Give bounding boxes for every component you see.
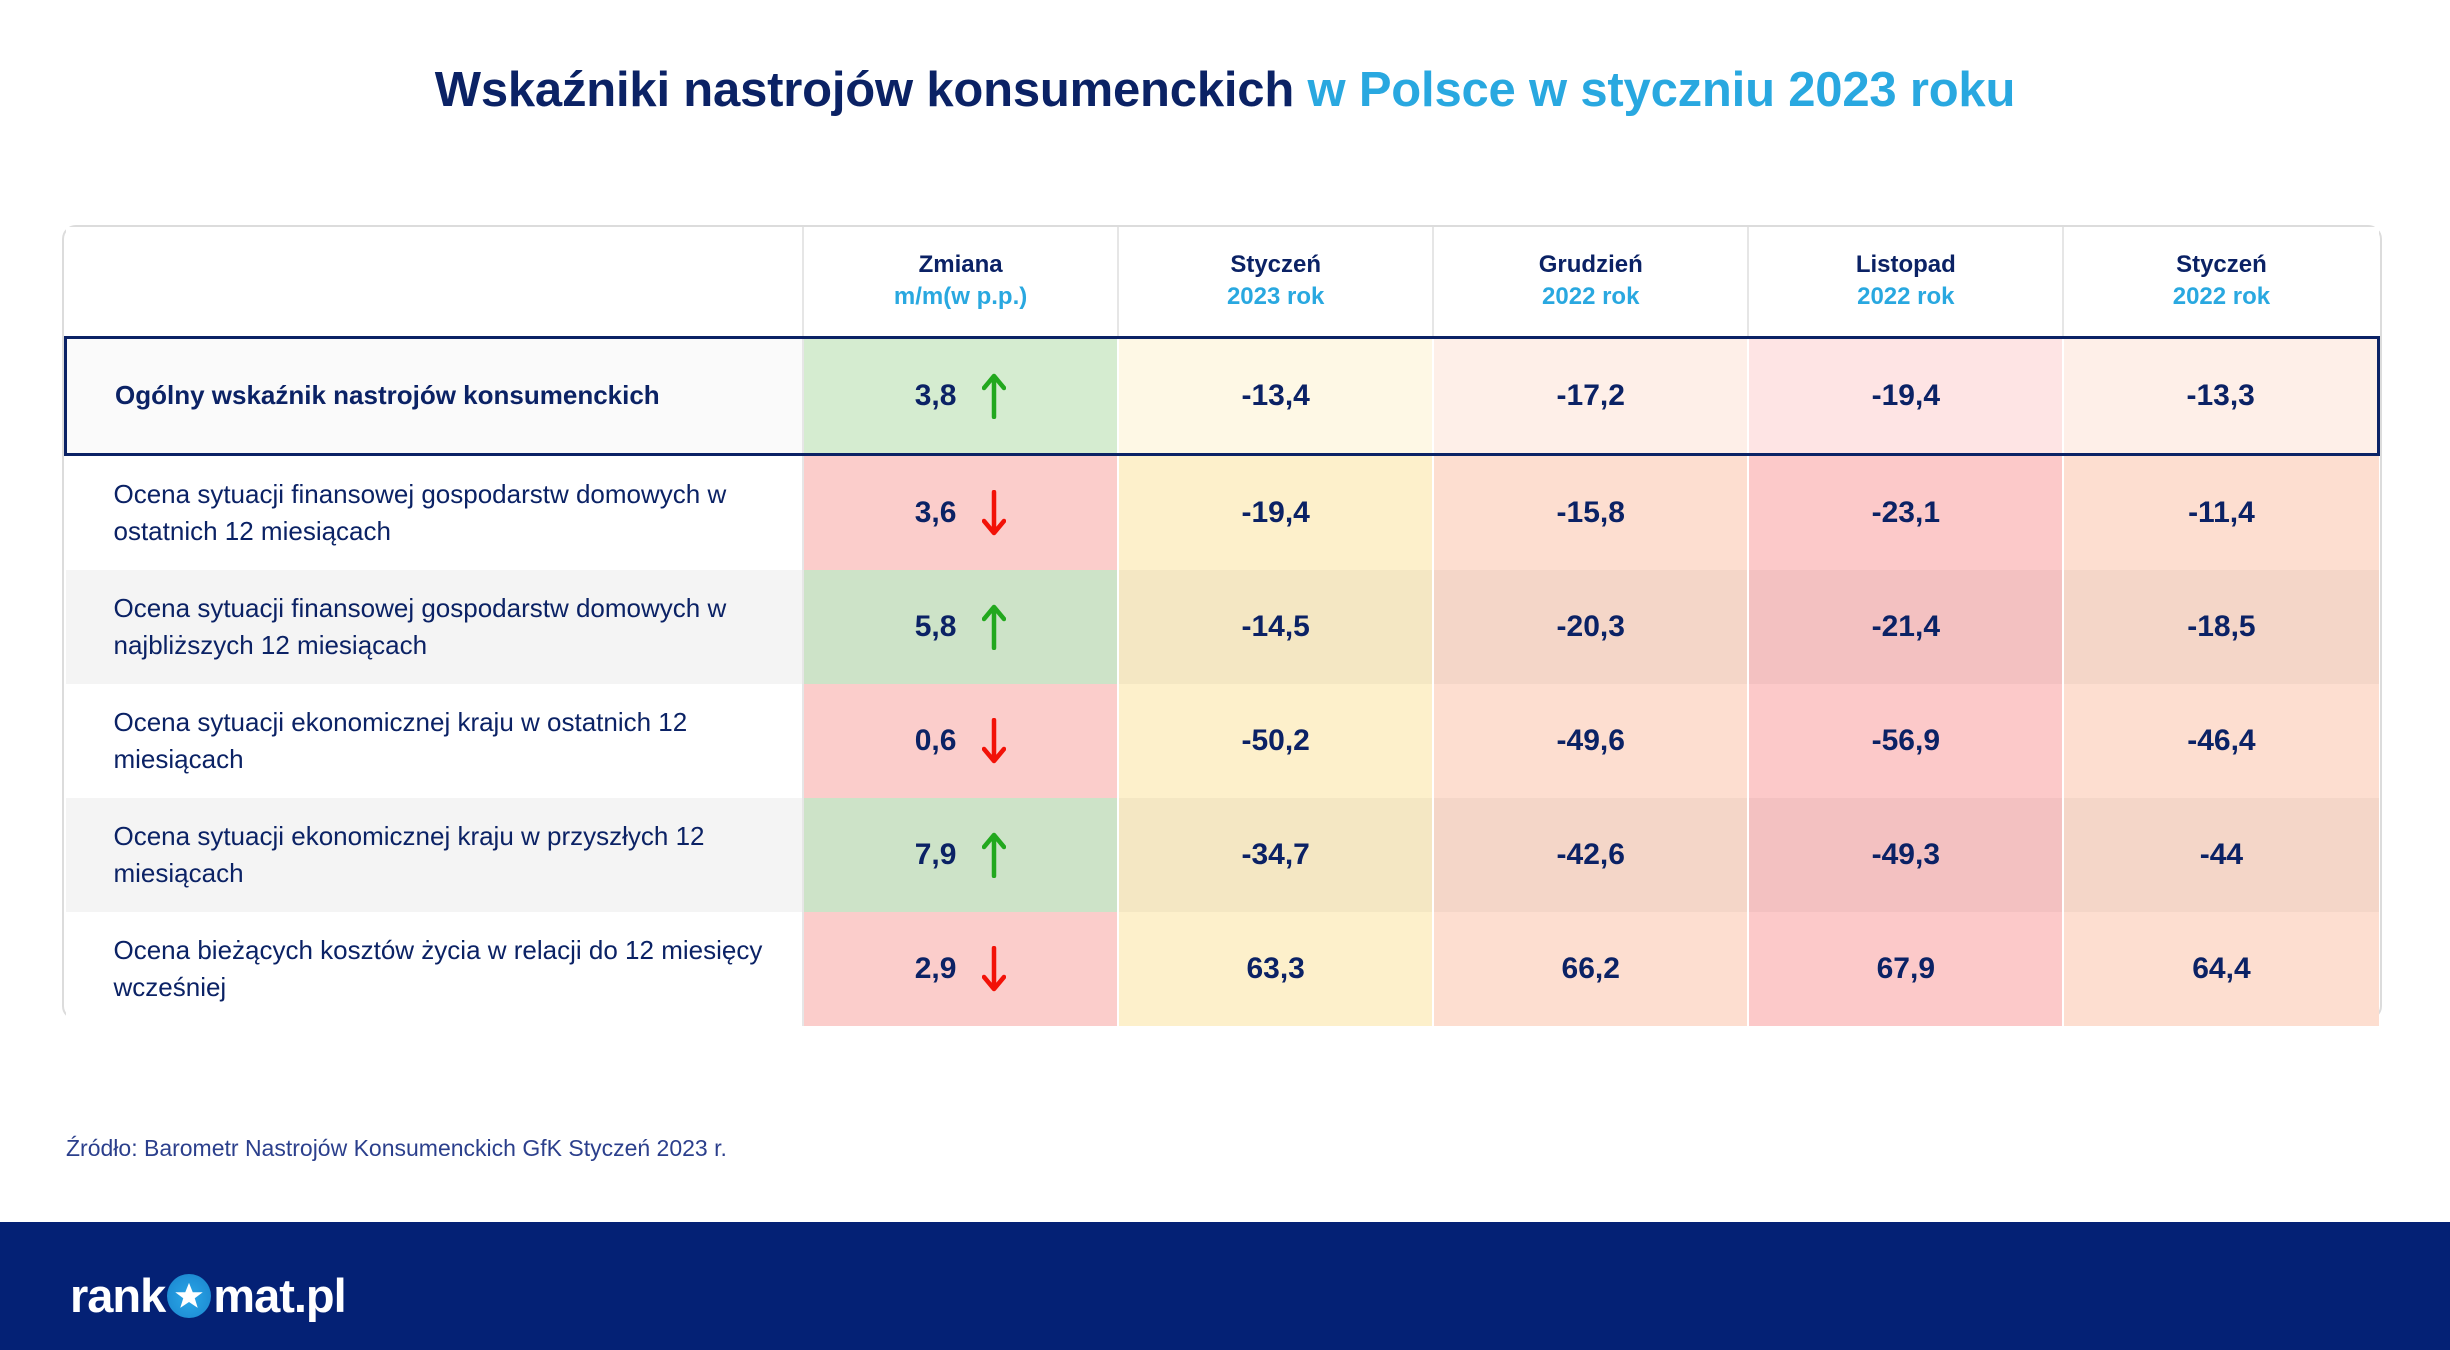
column-header-jan-2022-line2: 2022 rok [2064,281,2378,313]
row-label: Ocena bieżących kosztów życia w relacji … [66,912,804,1026]
title-part-light: w Polsce w styczniu 2023 roku [1308,63,2016,117]
column-header-nov-2022-line1: Listopad [1749,249,2062,281]
table-row: Ocena bieżących kosztów życia w relacji … [66,912,2379,1026]
arrow-down-icon [982,490,1006,536]
cell-inner: -20,3 [1434,570,1747,684]
column-header-jan-2023-line2: 2023 rok [1119,281,1432,313]
indicators-table-container: Zmiana m/m(w p.p.) Styczeń 2023 rok Grud… [62,225,2382,1020]
column-header-nov-2022-line2: 2022 rok [1749,281,2062,313]
cell-value: -34,7 [1118,798,1433,912]
cell-inner: -18,5 [2064,570,2378,684]
arrow-up-icon [982,604,1006,650]
cell-inner: -50,2 [1119,684,1432,798]
cell-inner: 64,4 [2064,912,2378,1026]
cell-text: -23,1 [1872,496,1940,530]
column-header-dec-2022: Grudzień 2022 rok [1433,227,1748,337]
arrow-down-icon [982,718,1006,764]
column-header-dec-2022-line1: Grudzień [1434,249,1747,281]
change-inner: 3,6 [804,456,1117,570]
change-value: 2,9 [915,952,957,986]
table-row: Ocena sytuacji finansowej gospodarstw do… [66,570,2379,684]
change-value: 0,6 [915,724,957,758]
source-note: Źródło: Barometr Nastrojów Konsumenckich… [66,1135,727,1162]
cell-value: -18,5 [2063,570,2378,684]
cell-value: 67,9 [1748,912,2063,1026]
cell-text: -42,6 [1557,838,1625,872]
cell-change: 7,9 [803,798,1118,912]
logo-text-left: rank [70,1272,165,1319]
row-label: Ogólny wskaźnik nastrojów konsumenckich [66,337,804,454]
page-title: Wskaźniki nastrojów konsumenckich w Pols… [0,62,2450,118]
cell-inner: -23,1 [1749,456,2062,570]
cell-text: -13,4 [1241,379,1309,413]
cell-text: -44 [2200,838,2243,872]
cell-value: -49,6 [1433,684,1748,798]
arrow-up-icon [982,373,1006,419]
cell-value: -42,6 [1433,798,1748,912]
column-header-jan-2023: Styczeń 2023 rok [1118,227,1433,337]
cell-text: -17,2 [1557,379,1625,413]
cell-text: -19,4 [1241,496,1309,530]
column-header-jan-2022: Styczeń 2022 rok [2063,227,2378,337]
cell-text: -20,3 [1557,610,1625,644]
row-label: Ocena sytuacji finansowej gospodarstw do… [66,454,804,570]
cell-text: -19,4 [1872,379,1940,413]
star-icon [167,1274,211,1318]
change-inner: 7,9 [804,798,1117,912]
cell-value: -13,4 [1118,337,1433,454]
cell-inner: -21,4 [1749,570,2062,684]
column-header-change-line2: m/m(w p.p.) [804,281,1117,313]
cell-value: -49,3 [1748,798,2063,912]
cell-inner: -17,2 [1434,339,1747,453]
cell-inner: -19,4 [1119,456,1432,570]
change-inner: 5,8 [804,570,1117,684]
cell-text: -11,4 [2188,496,2255,530]
cell-text: 64,4 [2192,952,2250,986]
cell-value: -14,5 [1118,570,1433,684]
cell-value: -50,2 [1118,684,1433,798]
column-header-jan-2023-line1: Styczeń [1119,249,1432,281]
column-header-indicator [66,227,804,337]
change-value: 5,8 [915,610,957,644]
rankomat-logo[interactable]: rank mat.pl [70,1272,346,1319]
cell-text: -14,5 [1241,610,1309,644]
cell-value: -46,4 [2063,684,2378,798]
table-body: Ogólny wskaźnik nastrojów konsumenckich3… [66,337,2379,1026]
cell-inner: -42,6 [1434,798,1747,912]
column-header-dec-2022-line2: 2022 rok [1434,281,1747,313]
cell-text: -15,8 [1557,496,1625,530]
row-label: Ocena sytuacji ekonomicznej kraju w przy… [66,798,804,912]
table-header: Zmiana m/m(w p.p.) Styczeń 2023 rok Grud… [66,227,2379,337]
cell-inner: 67,9 [1749,912,2062,1026]
change-inner: 3,8 [804,339,1117,453]
change-inner: 2,9 [804,912,1117,1026]
cell-value: -44 [2063,798,2378,912]
cell-change: 2,9 [803,912,1118,1026]
column-header-change: Zmiana m/m(w p.p.) [803,227,1118,337]
row-label: Ocena sytuacji ekonomicznej kraju w osta… [66,684,804,798]
cell-inner: -56,9 [1749,684,2062,798]
cell-text: 67,9 [1877,952,1935,986]
title-part-dark: Wskaźniki nastrojów konsumenckich [435,63,1294,117]
cell-inner: -34,7 [1119,798,1432,912]
cell-text: 63,3 [1246,952,1304,986]
cell-text: -49,3 [1872,838,1940,872]
change-value: 3,6 [915,496,957,530]
cell-value: 63,3 [1118,912,1433,1026]
cell-inner: -49,3 [1749,798,2062,912]
cell-inner: -44 [2064,798,2378,912]
table-row: Ocena sytuacji ekonomicznej kraju w osta… [66,684,2379,798]
cell-value: -17,2 [1433,337,1748,454]
cell-text: -46,4 [2187,724,2255,758]
cell-text: -49,6 [1557,724,1625,758]
cell-inner: 63,3 [1119,912,1432,1026]
infographic-page: Wskaźniki nastrojów konsumenckich w Pols… [0,0,2450,1350]
cell-value: 64,4 [2063,912,2378,1026]
table-row: Ogólny wskaźnik nastrojów konsumenckich3… [66,337,2379,454]
footer-bar: rank mat.pl [0,1222,2450,1350]
cell-value: -19,4 [1118,454,1433,570]
cell-value: -21,4 [1748,570,2063,684]
table-header-row: Zmiana m/m(w p.p.) Styczeń 2023 rok Grud… [66,227,2379,337]
cell-text: -13,3 [2186,379,2254,413]
change-value: 3,8 [915,379,957,413]
cell-value: -11,4 [2063,454,2378,570]
table-row: Ocena sytuacji ekonomicznej kraju w przy… [66,798,2379,912]
cell-value: -19,4 [1748,337,2063,454]
row-label: Ocena sytuacji finansowej gospodarstw do… [66,570,804,684]
arrow-down-icon [982,946,1006,992]
cell-text: 66,2 [1562,952,1620,986]
logo-text-right: mat.pl [213,1272,345,1319]
cell-inner: -11,4 [2064,456,2378,570]
cell-value: -20,3 [1433,570,1748,684]
cell-text: -21,4 [1872,610,1940,644]
cell-inner: -13,4 [1119,339,1432,453]
change-value: 7,9 [915,838,957,872]
column-header-change-line1: Zmiana [804,249,1117,281]
cell-text: -18,5 [2187,610,2255,644]
cell-inner: -13,3 [2064,339,2377,453]
cell-text: -34,7 [1241,838,1309,872]
cell-inner: -49,6 [1434,684,1747,798]
cell-change: 5,8 [803,570,1118,684]
cell-inner: -19,4 [1749,339,2062,453]
cell-change: 0,6 [803,684,1118,798]
indicators-table: Zmiana m/m(w p.p.) Styczeń 2023 rok Grud… [64,227,2380,1026]
change-inner: 0,6 [804,684,1117,798]
cell-inner: -15,8 [1434,456,1747,570]
cell-text: -56,9 [1872,724,1940,758]
cell-value: -15,8 [1433,454,1748,570]
cell-change: 3,8 [803,337,1118,454]
cell-change: 3,6 [803,454,1118,570]
column-header-jan-2022-line1: Styczeń [2064,249,2378,281]
cell-value: -56,9 [1748,684,2063,798]
arrow-up-icon [982,832,1006,878]
cell-value: -23,1 [1748,454,2063,570]
cell-text: -50,2 [1241,724,1309,758]
column-header-nov-2022: Listopad 2022 rok [1748,227,2063,337]
cell-inner: -46,4 [2064,684,2378,798]
cell-value: -13,3 [2063,337,2378,454]
cell-inner: -14,5 [1119,570,1432,684]
cell-inner: 66,2 [1434,912,1747,1026]
cell-value: 66,2 [1433,912,1748,1026]
table-row: Ocena sytuacji finansowej gospodarstw do… [66,454,2379,570]
